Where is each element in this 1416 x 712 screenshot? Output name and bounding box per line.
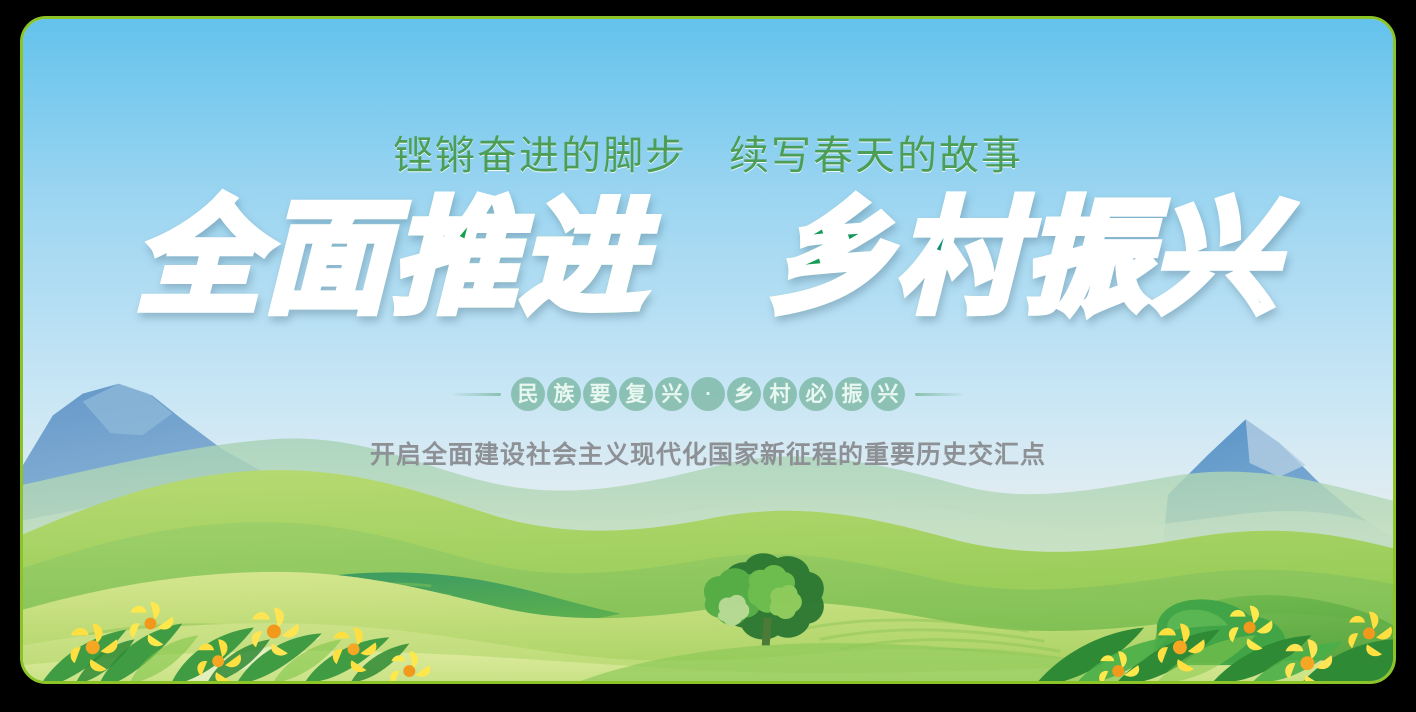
banner-stage: 铿锵奋进的脚步续写春天的故事 全面推进乡村振兴 民族要复兴·乡村必振兴 开启全面…: [0, 0, 1416, 712]
landscape-illustration: [23, 19, 1393, 681]
banner-artwork: [23, 19, 1393, 681]
banner-frame: 铿锵奋进的脚步续写春天的故事 全面推进乡村振兴 民族要复兴·乡村必振兴 开启全面…: [20, 16, 1396, 684]
